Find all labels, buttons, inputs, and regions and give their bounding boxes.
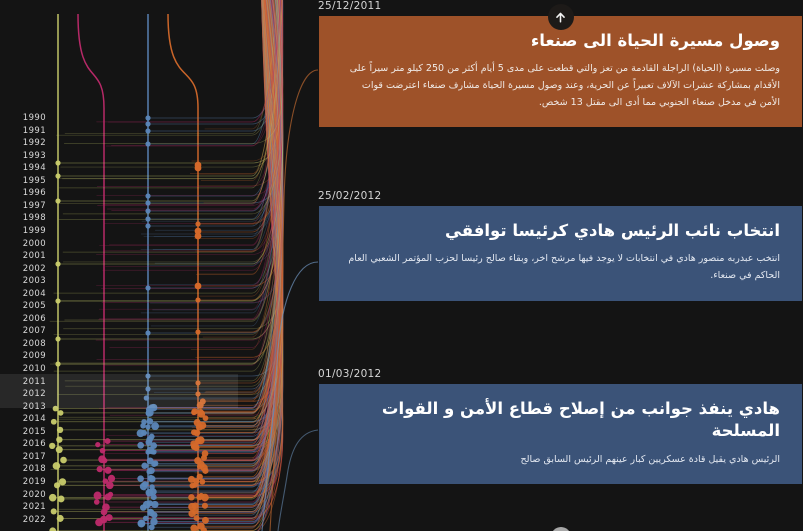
year-label-2010[interactable]: 2010 bbox=[23, 364, 46, 374]
event-card-2-text: انتخب عبدربه منصور هادي في انتخابات لا ي… bbox=[341, 251, 780, 284]
year-label-1996[interactable]: 1996 bbox=[23, 188, 46, 198]
timeline-visualization[interactable]: 1990199119921993199419951996199719981999… bbox=[0, 0, 318, 531]
year-label-2008[interactable]: 2008 bbox=[23, 339, 46, 349]
year-label-2001[interactable]: 2001 bbox=[23, 251, 46, 261]
year-label-2000[interactable]: 2000 bbox=[23, 239, 46, 249]
year-label-1994[interactable]: 1994 bbox=[23, 163, 46, 173]
event-card-1-body-wrap[interactable]: وصول مسيرة الحياة الى صنعاء وصلت مسيرة (… bbox=[319, 16, 802, 127]
event-card-1[interactable]: 25/12/2011 وصول مسيرة الحياة الى صنعاء و… bbox=[318, 0, 803, 127]
year-label-2020[interactable]: 2020 bbox=[23, 490, 46, 500]
year-label-2011[interactable]: 2011 bbox=[23, 377, 46, 387]
year-label-2012[interactable]: 2012 bbox=[23, 389, 46, 399]
year-label-2021[interactable]: 2021 bbox=[23, 502, 46, 512]
year-label-2003[interactable]: 2003 bbox=[23, 276, 46, 286]
year-label-2016[interactable]: 2016 bbox=[23, 439, 46, 449]
year-label-2004[interactable]: 2004 bbox=[23, 289, 46, 299]
scroll-up-button[interactable] bbox=[548, 4, 574, 30]
year-label-2014[interactable]: 2014 bbox=[23, 414, 46, 424]
year-label-1993[interactable]: 1993 bbox=[23, 151, 46, 161]
year-label-2022[interactable]: 2022 bbox=[23, 515, 46, 525]
event-card-3-title: هادي ينفذ جوانب من إصلاح قطاع الأمن و ال… bbox=[341, 398, 780, 443]
event-card-3-body-wrap[interactable]: هادي ينفذ جوانب من إصلاح قطاع الأمن و ال… bbox=[319, 384, 802, 484]
event-card-2-body-wrap[interactable]: انتخاب نائب الرئيس هادي كرئيسا توافقي ان… bbox=[319, 206, 802, 301]
year-label-1992[interactable]: 1992 bbox=[23, 138, 46, 148]
event-card-3[interactable]: 01/03/2012 هادي ينفذ جوانب من إصلاح قطاع… bbox=[318, 368, 803, 484]
event-card-3-text: الرئيس هادي يقيل قادة عسكريين كبار عينهم… bbox=[341, 452, 780, 469]
event-card-3-date: 01/03/2012 bbox=[318, 368, 803, 384]
event-card-2-title: انتخاب نائب الرئيس هادي كرئيسا توافقي bbox=[341, 220, 780, 242]
year-label-2019[interactable]: 2019 bbox=[23, 477, 46, 487]
year-label-1999[interactable]: 1999 bbox=[23, 226, 46, 236]
year-label-2005[interactable]: 2005 bbox=[23, 301, 46, 311]
year-label-1995[interactable]: 1995 bbox=[23, 176, 46, 186]
year-label-1990[interactable]: 1990 bbox=[23, 113, 46, 123]
year-label-1991[interactable]: 1991 bbox=[23, 126, 46, 136]
year-label-2007[interactable]: 2007 bbox=[23, 326, 46, 336]
year-label-2015[interactable]: 2015 bbox=[23, 427, 46, 437]
arrow-up-icon bbox=[554, 11, 567, 24]
event-card-1-text: وصلت مسيرة (الحياة) الراجلة القادمة من ت… bbox=[341, 61, 780, 111]
year-label-2006[interactable]: 2006 bbox=[23, 314, 46, 324]
year-label-1998[interactable]: 1998 bbox=[23, 213, 46, 223]
scroll-down-handle[interactable] bbox=[551, 527, 571, 531]
event-card-2-date: 25/02/2012 bbox=[318, 190, 803, 206]
event-cards-panel[interactable]: 25/12/2011 وصول مسيرة الحياة الى صنعاء و… bbox=[318, 0, 803, 531]
year-label-2009[interactable]: 2009 bbox=[23, 351, 46, 361]
year-axis[interactable]: 1990199119921993199419951996199719981999… bbox=[0, 0, 50, 531]
year-label-2013[interactable]: 2013 bbox=[23, 402, 46, 412]
event-card-1-title: وصول مسيرة الحياة الى صنعاء bbox=[341, 30, 780, 52]
year-label-2017[interactable]: 2017 bbox=[23, 452, 46, 462]
year-label-2018[interactable]: 2018 bbox=[23, 464, 46, 474]
event-card-2[interactable]: 25/02/2012 انتخاب نائب الرئيس هادي كرئيس… bbox=[318, 190, 803, 301]
year-label-1997[interactable]: 1997 bbox=[23, 201, 46, 211]
year-label-2002[interactable]: 2002 bbox=[23, 264, 46, 274]
